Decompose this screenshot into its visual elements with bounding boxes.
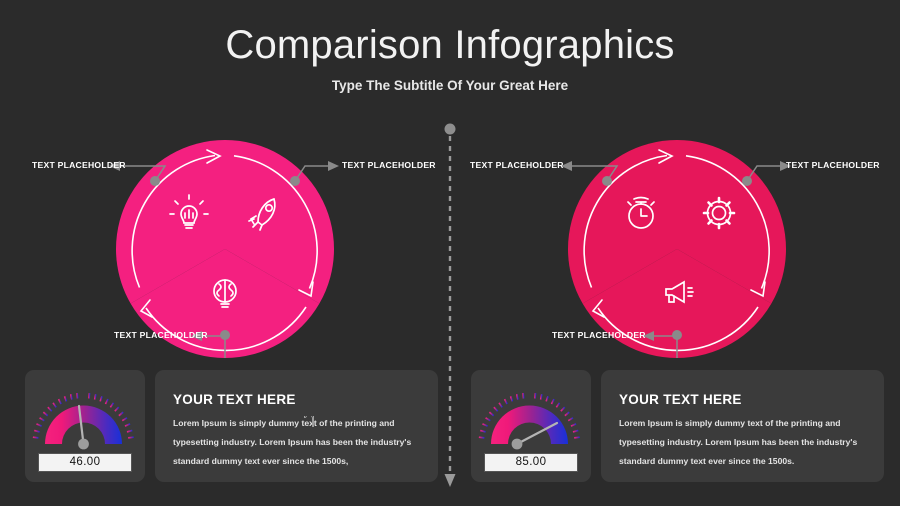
right-card-body[interactable]: Lorem Ipsum is simply dummy text of the … [619,414,869,471]
right-gauge-card: 85.00 [471,370,591,482]
left-gauge-chart [31,378,139,454]
right-pie-label-2[interactable]: TEXT PLACEHOLDER [786,160,880,170]
left-pie-label-2[interactable]: TEXT PLACEHOLDER [342,160,436,170]
right-gauge-chart [477,378,585,454]
pie-segments [114,138,338,363]
left-pie-group: TEXT PLACEHOLDER TEXT PLACEHOLDER TEXT P… [10,136,440,362]
page-subtitle: Type The Subtitle Of Your Great Here [0,77,900,95]
left-text-card: YOUR TEXT HERE Lorem Ipsum is simply dum… [155,370,438,482]
right-gauge-value[interactable]: 85.00 [484,453,578,472]
divider-top-dot [445,124,456,135]
infographic-slide: Comparison Infographics Type The Subtitl… [0,0,900,506]
left-pie-label-1[interactable]: TEXT PLACEHOLDER [32,160,126,170]
left-card-heading[interactable]: YOUR TEXT HERE [173,392,296,407]
left-pie-label-3[interactable]: TEXT PLACEHOLDER [114,330,208,340]
right-card-heading[interactable]: YOUR TEXT HERE [619,392,742,407]
page-title: Comparison Infographics [0,22,900,68]
left-gauge-value[interactable]: 46.00 [38,453,132,472]
right-pie-label-1[interactable]: TEXT PLACEHOLDER [470,160,564,170]
divider-arrow-down [445,474,456,487]
right-text-card: YOUR TEXT HERE Lorem Ipsum is simply dum… [601,370,884,482]
left-gauge-card: 46.00 [25,370,145,482]
pie-segments [566,138,790,363]
left-card-body[interactable]: Lorem Ipsum is simply dummy text of the … [173,414,423,471]
right-pie-label-3[interactable]: TEXT PLACEHOLDER [552,330,646,340]
right-pie-group: TEXT PLACEHOLDER TEXT PLACEHOLDER TEXT P… [462,136,892,362]
